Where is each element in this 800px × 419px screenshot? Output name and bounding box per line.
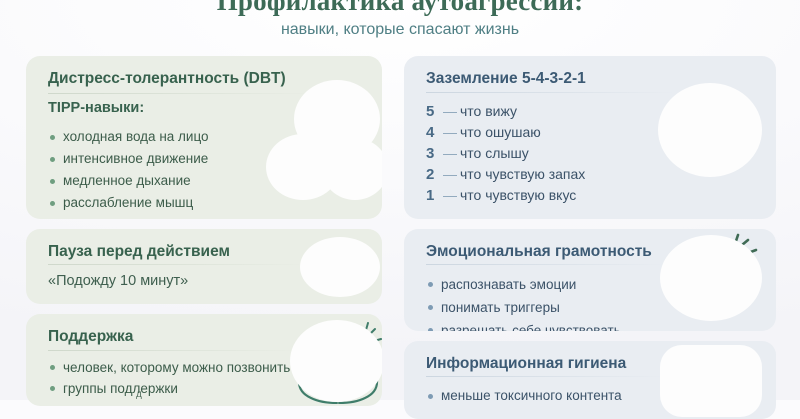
step-dash: —	[440, 145, 460, 161]
stressed-face-run-swim-icon	[266, 80, 382, 212]
step-dash: —	[440, 103, 460, 119]
card-heading: Пауза перед действием	[48, 243, 312, 261]
list-item: человек, которому можно позвонить	[48, 357, 310, 378]
list-item: группы подлержки	[48, 378, 310, 399]
card-grounding[interactable]: Заземление 5-4-3-2-1 5—что вижу 4—что ош…	[404, 56, 776, 219]
list-item: 1—что чувствую вкус	[426, 185, 585, 206]
divider	[48, 264, 306, 265]
two-people-heart-icon	[660, 235, 764, 323]
list-item: расслабление мышц	[48, 192, 298, 214]
step-number: 1	[426, 185, 440, 206]
step-dash: —	[440, 166, 460, 182]
infographic-stage: Профилактика аутоагрессии: навыки, котор…	[0, 0, 800, 400]
card-pause-before-action[interactable]: Пауза перед действием «Подожду 10 минут»	[26, 229, 382, 304]
step-text: что слышу	[460, 145, 529, 161]
list-item: холодная вода на лицо	[48, 126, 298, 148]
page-subtitle: навыки, которые спасают жизнь	[0, 20, 800, 40]
step-number: 3	[426, 143, 440, 164]
browser-flag-icon	[660, 345, 764, 419]
list-item: 4—что ошушаю	[426, 122, 585, 143]
list-item: 2—что чувствую запах	[426, 164, 585, 185]
page-title: Профилактика аутоагрессии:	[0, 0, 800, 16]
bullet-list: человек, которому можно позвонить группы…	[48, 357, 310, 406]
bullet-list: холодная вода на лицо интенсивное движен…	[48, 126, 298, 214]
step-dash: —	[440, 187, 460, 203]
card-subheading: TIPP-навыки:	[48, 100, 144, 116]
card-emotional-literacy[interactable]: Эмоциональная грамотность распознавать э…	[404, 229, 776, 331]
list-item: 3—что слышу	[426, 143, 585, 164]
header: Профилактика аутоагрессии: навыки, котор…	[0, 0, 800, 40]
list-item: интенсивное движение	[48, 148, 298, 170]
card-heading: Поддержка	[48, 328, 312, 346]
list-item: 5—что вижу	[426, 101, 585, 122]
bullet-list: меньше токсичного контента	[426, 385, 666, 407]
list-item: медленное дыхание	[48, 170, 298, 192]
list-item: меньше токсичного контента	[426, 385, 666, 407]
card-distress-tolerance[interactable]: Дистресс-толерантность (DBT) TIPP-навыки…	[26, 56, 382, 219]
grounding-steps-list: 5—что вижу 4—что ошушаю 3—что слышу 2—чт…	[426, 101, 585, 206]
step-text: что ошушаю	[460, 124, 541, 140]
divider	[426, 376, 664, 377]
hands-holding-heart-icon	[290, 320, 382, 404]
bullet-list: распознавать эмоции понимать триггеры ра…	[426, 273, 666, 331]
step-dash: —	[440, 124, 460, 140]
divider	[426, 264, 664, 265]
step-text: что чувствую вкус	[460, 187, 576, 203]
heart-puzzle-brain-eye-icon	[654, 81, 766, 181]
card-support[interactable]: Поддержка человек, которому можно позвон…	[26, 314, 382, 406]
list-item: разрешать себе чувствовать	[426, 319, 666, 331]
divider	[426, 92, 676, 93]
list-item: понимать триггеры	[426, 296, 666, 319]
step-number: 4	[426, 122, 440, 143]
divider	[48, 350, 298, 351]
step-number: 2	[426, 164, 440, 185]
step-number: 5	[426, 101, 440, 122]
list-item: просить о помощи	[48, 399, 310, 406]
card-quote: «Подожду 10 минут»	[48, 273, 188, 289]
list-item: распознавать эмоции	[426, 273, 666, 296]
render-artifact-glyph: д	[136, 389, 142, 400]
step-text: что чувствую запах	[460, 166, 585, 182]
clock-pause-icon	[298, 235, 382, 299]
card-information-hygiene[interactable]: Информационная гигиена меньше токсичного…	[404, 341, 776, 419]
step-text: что вижу	[460, 103, 517, 119]
